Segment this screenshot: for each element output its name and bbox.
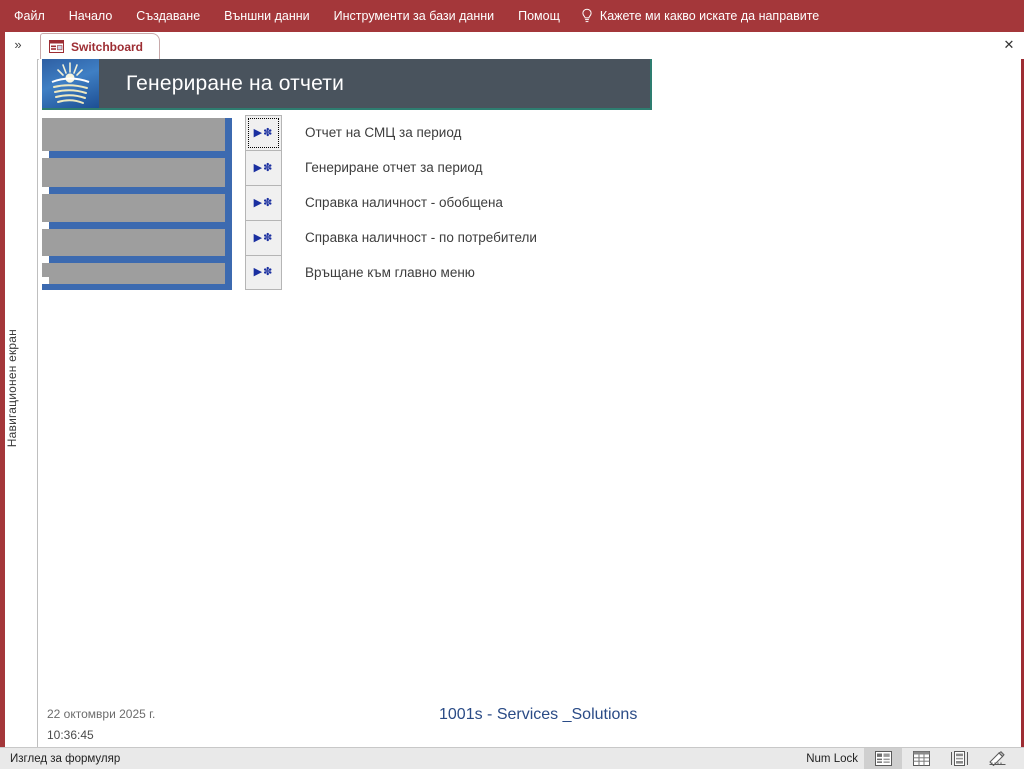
go-to-icon: ▶✽ [254,198,274,209]
switchboard-button-5[interactable]: ▶✽ [245,255,282,290]
go-to-icon: ▶✽ [254,233,274,244]
datasheet-view-icon[interactable] [902,748,940,769]
ribbon-tab-home[interactable]: Начало [57,0,125,32]
status-num-lock: Num Lock [806,753,858,765]
ribbon-tab-help[interactable]: Помощ [506,0,572,32]
go-to-icon: ▶✽ [254,128,274,139]
switchboard-item-label-3: Справка наличност - обобщена [305,185,537,220]
stripe-notch-5 [42,277,49,284]
sun-water-logo-icon [42,59,99,108]
stripe-3 [48,222,225,229]
switchboard-button-column: ▶✽ ▶✽ ▶✽ ▶✽ ▶✽ [245,115,282,290]
stripe-1 [48,151,225,158]
navigation-pane-collapsed[interactable]: Навигационен екран [5,59,38,747]
form-footer-brand: 1001s - Services _Solutions [439,706,637,724]
form-icon [49,40,64,53]
status-view-label: Изглед за формуляр [10,753,120,765]
switchboard-item-label-5: Връщане към главно меню [305,255,537,290]
stripe-notch-3 [42,222,49,229]
ribbon-tab-file[interactable]: Файл [0,0,57,32]
ribbon-tab-external-data[interactable]: Външни данни [212,0,321,32]
view-switch-buttons [864,748,1016,769]
tell-me-box[interactable]: Кажете ми какво искате да направите [572,8,819,24]
document-tab-label: Switchboard [71,40,143,54]
ribbon: Файл Начало Създаване Външни данни Инстр… [0,0,1024,32]
design-view-icon[interactable] [978,748,1016,769]
form-canvas: Генериране на отчети ▶✽ ▶✽ ▶✽ ▶✽ ▶✽ Отче… [39,59,1024,747]
form-title: Генериране на отчети [126,72,344,96]
layout-view-icon[interactable] [940,748,978,769]
go-to-icon: ▶✽ [254,267,274,278]
stripe-notch-1 [42,151,49,158]
close-icon[interactable]: ✕ [998,35,1020,55]
decorative-stripe-panel [42,118,232,290]
switchboard-label-column: Отчет на СМЦ за период Генериране отчет … [305,115,537,290]
ribbon-tab-create[interactable]: Създаване [124,0,212,32]
switchboard-button-3[interactable]: ▶✽ [245,185,282,220]
stripe-2 [48,187,225,194]
switchboard-button-4[interactable]: ▶✽ [245,220,282,255]
navigation-pane-label: Навигационен екран [5,329,38,447]
form-footer-date: 22 октомври 2025 г. [47,707,155,721]
switchboard-item-label-4: Справка наличност - по потребители [305,220,537,255]
switchboard-item-label-1: Отчет на СМЦ за период [305,115,537,150]
document-tab-switchboard[interactable]: Switchboard [40,33,160,59]
stripe-notch-2 [42,187,49,194]
lightbulb-icon [580,8,594,24]
form-footer-time: 10:36:45 [47,728,94,742]
status-bar: Изглед за формуляр Num Lock [0,747,1024,769]
stripe-4 [48,256,225,263]
switchboard-button-1[interactable]: ▶✽ [245,115,282,150]
switchboard-button-2[interactable]: ▶✽ [245,150,282,185]
ribbon-tab-database-tools[interactable]: Инструменти за бази данни [322,0,506,32]
chevron-double-right-icon[interactable]: » [6,32,30,58]
document-tab-strip: » Switchboard ✕ [0,32,1024,60]
tell-me-label: Кажете ми какво искате да направите [600,9,819,23]
switchboard-item-label-2: Генериране отчет за период [305,150,537,185]
form-header-bar: Генериране на отчети [42,59,652,110]
stripe-notch-4 [42,256,49,263]
go-to-icon: ▶✽ [254,163,274,174]
form-view-icon[interactable] [864,748,902,769]
